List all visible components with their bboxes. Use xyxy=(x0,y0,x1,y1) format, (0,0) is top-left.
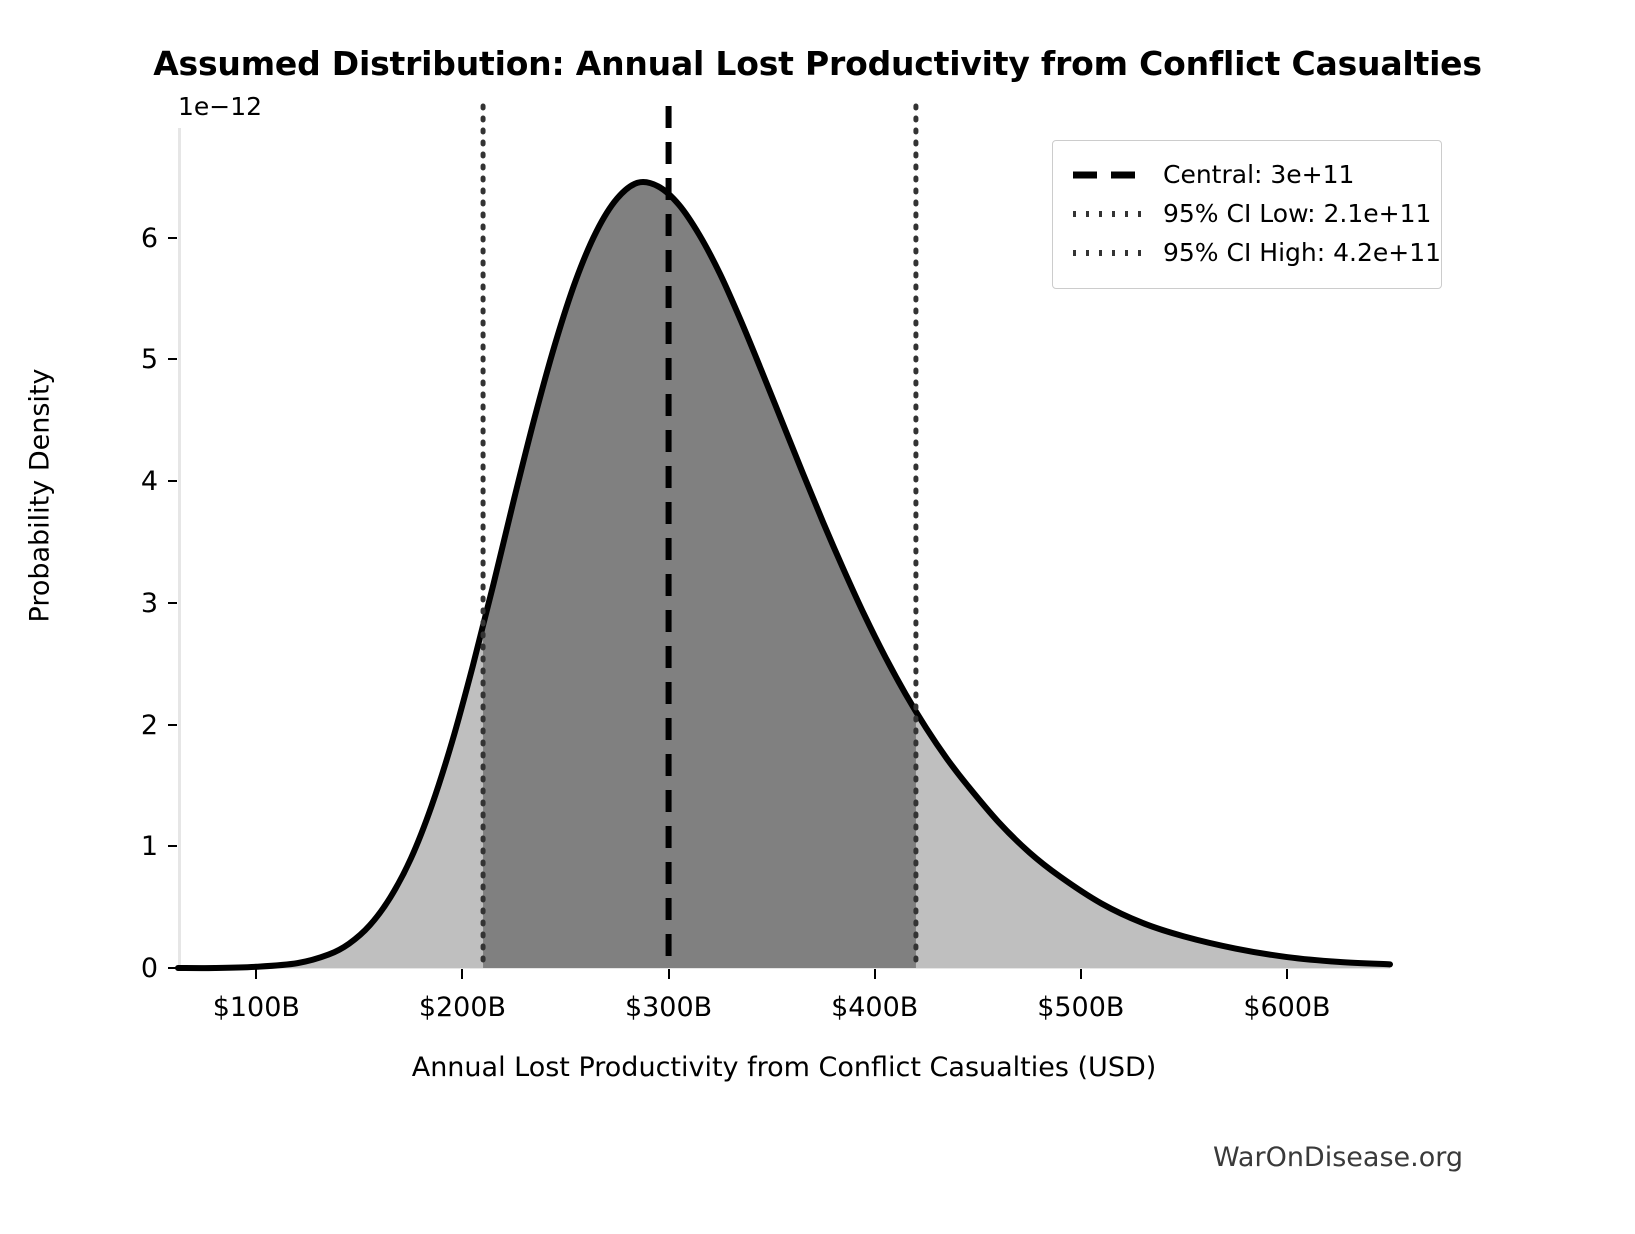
dashed-line-icon xyxy=(1071,165,1145,185)
x-axis-label: Annual Lost Productivity from Conflict C… xyxy=(0,1052,1568,1083)
legend-item-ci-high[interactable]: 95% CI High: 4.2e+11 xyxy=(1071,233,1423,272)
legend-label-ci-high: 95% CI High: 4.2e+11 xyxy=(1163,238,1441,267)
watermark: WarOnDisease.org xyxy=(1213,1142,1463,1173)
dotted-line-icon xyxy=(1071,204,1145,224)
y-axis-offset-text: 1e−12 xyxy=(178,92,262,121)
y-tick-mark xyxy=(168,602,177,604)
y-tick-mark xyxy=(168,480,177,482)
x-tick-mark xyxy=(874,969,876,979)
y-axis-label: Probability Density xyxy=(25,246,56,746)
x-tick-mark xyxy=(1286,969,1288,979)
y-tick-mark xyxy=(168,967,177,969)
x-tick-mark xyxy=(255,969,257,979)
y-tick-mark xyxy=(168,358,177,360)
x-tick-mark xyxy=(461,969,463,979)
y-tick-mark xyxy=(168,237,177,239)
legend-item-ci-low[interactable]: 95% CI Low: 2.1e+11 xyxy=(1071,194,1423,233)
legend-label-ci-low: 95% CI Low: 2.1e+11 xyxy=(1163,199,1431,228)
y-tick-mark xyxy=(168,845,177,847)
x-tick-mark xyxy=(1080,969,1082,979)
figure-canvas: Assumed Distribution: Annual Lost Produc… xyxy=(0,0,1635,1234)
legend-box[interactable]: Central: 3e+11 95% CI Low: 2.1e+11 95% C… xyxy=(1052,140,1442,289)
dotted-line-icon xyxy=(1071,243,1145,263)
x-tick-mark xyxy=(668,969,670,979)
density-fill-ci xyxy=(483,183,916,968)
page-title: Assumed Distribution: Annual Lost Produc… xyxy=(0,44,1635,83)
legend-label-central: Central: 3e+11 xyxy=(1163,160,1354,189)
y-tick-mark xyxy=(168,724,177,726)
legend-item-central[interactable]: Central: 3e+11 xyxy=(1071,155,1423,194)
